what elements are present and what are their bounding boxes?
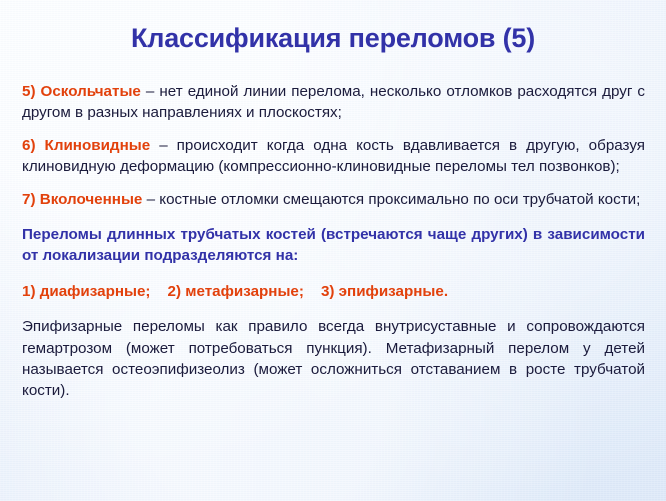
slide-canvas: Классификация переломов (5) 5) Оскольчат… — [0, 0, 666, 501]
page-title: Классификация переломов (5) — [0, 0, 666, 54]
list-item: 6) Клиновидные – происходит когда одна к… — [22, 135, 645, 178]
list-item-term: 6) Клиновидные — [22, 137, 150, 154]
list-item: 7) Вколоченные – костные отломки смещают… — [22, 189, 645, 210]
slide-body: 5) Оскольчатые – нет единой линии перело… — [0, 81, 666, 402]
list-item-text: – костные отломки смещаются проксимально… — [142, 191, 640, 208]
highlight-paragraph: Переломы длинных трубчатых костей (встре… — [22, 224, 645, 267]
closing-paragraph: Эпифизарные переломы как правило всегда … — [22, 316, 645, 402]
list-item-term: 5) Оскольчатые — [22, 83, 141, 100]
enumeration-item-1: 1) диафизарные; — [22, 283, 151, 300]
enumeration-item-2: 2) метафизарные; — [168, 283, 304, 300]
list-item-term: 7) Вколоченные — [22, 191, 142, 208]
list-item: 5) Оскольчатые – нет единой линии перело… — [22, 81, 645, 124]
slide-content: Классификация переломов (5) 5) Оскольчат… — [0, 0, 666, 402]
enumeration-item-3: 3) эпифизарные. — [321, 283, 448, 300]
enumeration-line: 1) диафизарные;2) метафизарные;3) эпифиз… — [22, 281, 645, 302]
